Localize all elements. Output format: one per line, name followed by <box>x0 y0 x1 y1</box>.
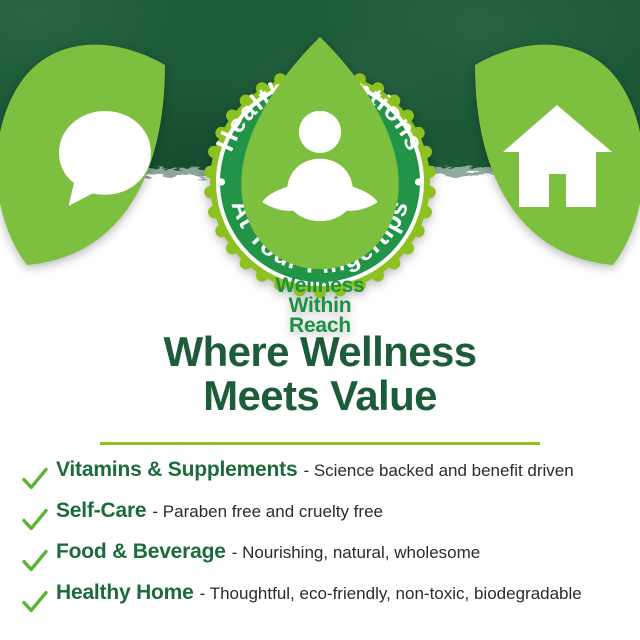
badge-graphic: Healthier Options At Your Fingertips <box>200 62 440 302</box>
headline-line-2: Meets Value <box>0 374 640 418</box>
feature-title: Food & Beverage <box>56 540 226 564</box>
badge-separator-dot-right <box>415 178 422 185</box>
check-icon <box>22 549 56 573</box>
list-item: Self-Care - Paraben free and cruelty fre… <box>20 499 630 540</box>
headline-line-1: Where Wellness <box>0 330 640 374</box>
list-item: Healthy Home - Thoughtful, eco-friendly,… <box>20 581 630 622</box>
feature-description: - Paraben free and cruelty free <box>152 502 383 522</box>
badge-separator-dot-left <box>218 178 225 185</box>
feature-title: Healthy Home <box>56 581 194 605</box>
feature-title: Vitamins & Supplements <box>56 458 297 482</box>
check-icon <box>22 508 56 532</box>
check-icon <box>22 590 56 614</box>
badge-inner-disc <box>258 120 382 244</box>
feature-description: - Science backed and benefit driven <box>303 461 573 481</box>
feature-description: - Nourishing, natural, wholesome <box>232 543 481 563</box>
list-item: Food & Beverage - Nourishing, natural, w… <box>20 540 630 581</box>
feature-list: Vitamins & Supplements - Science backed … <box>20 458 630 622</box>
feature-title: Self-Care <box>56 499 146 523</box>
wellness-badge: Healthier Options At Your Fingertips <box>200 62 440 302</box>
section-divider <box>100 442 540 445</box>
feature-description: - Thoughtful, eco-friendly, non-toxic, b… <box>200 584 582 604</box>
page-title: Where Wellness Meets Value <box>0 330 640 418</box>
check-icon <box>22 467 56 491</box>
list-item: Vitamins & Supplements - Science backed … <box>20 458 630 499</box>
